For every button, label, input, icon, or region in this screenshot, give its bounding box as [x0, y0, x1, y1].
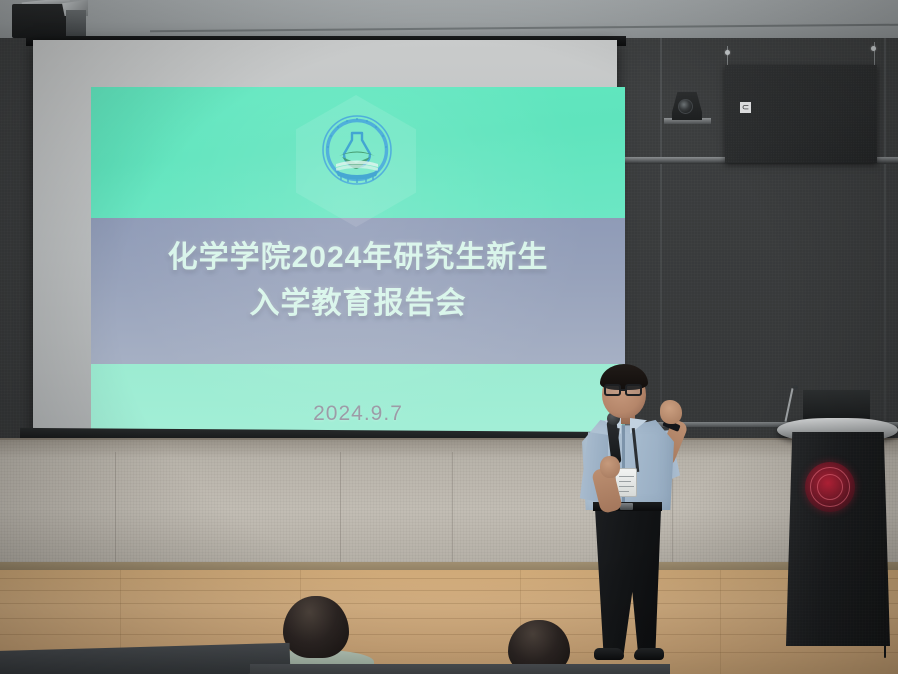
wall-speaker	[725, 65, 877, 163]
panel-seam-2	[340, 452, 341, 566]
podium-mic-capsule-icon	[793, 385, 798, 390]
camera-lens-icon	[678, 99, 693, 114]
slide-date: 2024.9.7	[91, 402, 625, 426]
speaker-eyelet-right	[871, 46, 876, 51]
audience-member-front-left	[283, 596, 349, 658]
presenter-trousers	[592, 506, 664, 654]
presentation-slide: 化学学院2024年研究生新生 入学教育报告会 2024.9.7	[91, 87, 625, 475]
eyeglasses-lens-left	[604, 384, 621, 396]
slide-title: 化学学院2024年研究生新生 入学教育报告会	[91, 235, 625, 326]
slide-title-line-2: 入学教育报告会	[91, 281, 625, 327]
floor-cable	[884, 560, 886, 658]
chemistry-college-emblem-icon	[319, 112, 395, 188]
projector-mount-post	[66, 10, 86, 38]
speaker-brand-logo: ⊂	[740, 102, 751, 113]
lecture-hall-photo: ⊂	[0, 0, 898, 674]
speaker-eyelet-left	[725, 50, 730, 55]
lower-wall-panels	[0, 440, 898, 568]
seal-inner-ring	[817, 474, 843, 500]
presenter	[560, 360, 720, 670]
presenter-hand-left	[600, 456, 620, 478]
wall-seam-right	[884, 38, 886, 450]
presenter-belt-buckle	[620, 503, 633, 510]
panel-seam-3	[452, 452, 453, 566]
projection-screen-frame: 化学学院2024年研究生新生 入学教育报告会 2024.9.7	[33, 40, 617, 448]
presenter-shoe-right	[634, 648, 664, 660]
panel-seam-1	[115, 452, 116, 566]
slide-title-line-1: 化学学院2024年研究生新生	[91, 235, 625, 281]
presenter-shoe-left	[594, 648, 624, 660]
eyeglasses-bridge	[620, 389, 626, 391]
presenter-hand-right	[660, 400, 682, 424]
eyeglasses-lens-right	[625, 384, 642, 396]
seat-row-front-center	[250, 664, 670, 674]
ceiling	[0, 0, 898, 40]
